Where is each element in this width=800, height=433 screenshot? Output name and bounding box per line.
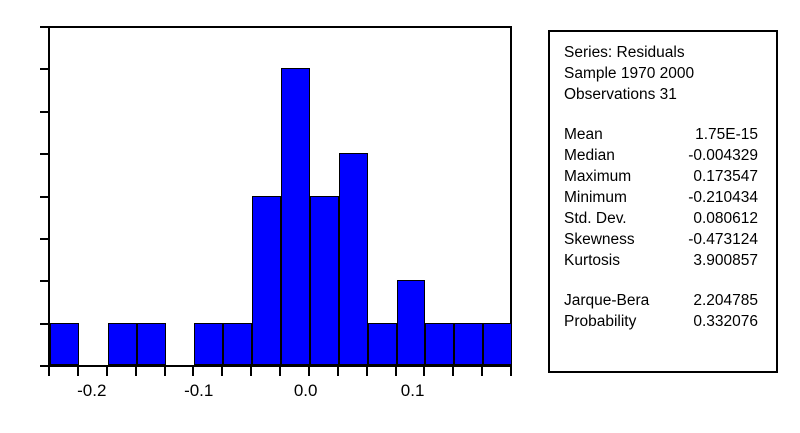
x-axis-tick <box>510 367 512 376</box>
statistics-content: Series: ResidualsSample 1970 2000Observa… <box>564 42 766 332</box>
x-axis-tick <box>395 367 397 376</box>
statistics-header-line: Sample 1970 2000 <box>564 63 766 84</box>
statistic-test-row: Probability0.332076 <box>564 311 766 332</box>
statistic-value: 3.900857 <box>693 250 766 271</box>
statistics-header-line: Series: Residuals <box>564 42 766 63</box>
statistic-label: Median <box>564 145 615 166</box>
statistic-value: 1.75E-15 <box>695 124 766 145</box>
statistic-label: Minimum <box>564 187 627 208</box>
x-axis-tick <box>221 367 223 376</box>
statistic-row: Skewness-0.473124 <box>564 229 766 250</box>
statistic-row: Std. Dev.0.080612 <box>564 208 766 229</box>
statistic-label: Skewness <box>564 229 635 250</box>
statistic-label: Probability <box>564 311 636 332</box>
statistic-value: -0.210434 <box>688 187 766 208</box>
x-axis-tick <box>135 367 137 376</box>
x-axis-tick <box>366 367 368 376</box>
statistics-box: Series: ResidualsSample 1970 2000Observa… <box>548 30 778 373</box>
x-axis-tick <box>48 367 50 376</box>
x-axis-tick-label: 0.0 <box>276 381 336 400</box>
x-axis: -0.2-0.10.00.1 <box>0 0 530 433</box>
x-axis-tick <box>192 367 194 376</box>
x-axis-tick <box>77 367 79 376</box>
x-axis-tick <box>337 367 339 376</box>
statistic-row: Maximum0.173547 <box>564 166 766 187</box>
x-axis-tick <box>481 367 483 376</box>
x-axis-tick <box>452 367 454 376</box>
statistic-row: Median-0.004329 <box>564 145 766 166</box>
statistic-label: Jarque-Bera <box>564 290 649 311</box>
statistic-value: 2.204785 <box>693 290 766 311</box>
statistic-label: Std. Dev. <box>564 208 627 229</box>
histogram-panel: 012345678 -0.2-0.10.00.1 <box>0 0 530 433</box>
statistic-value: -0.004329 <box>688 145 766 166</box>
x-axis-tick <box>279 367 281 376</box>
statistic-value: 0.173547 <box>693 166 766 187</box>
statistics-header-line: Observations 31 <box>564 84 766 105</box>
statistic-label: Maximum <box>564 166 631 187</box>
x-axis-tick <box>250 367 252 376</box>
x-axis-tick-label: -0.1 <box>169 381 229 400</box>
statistics-spacer <box>564 105 766 124</box>
x-axis-tick <box>308 367 310 376</box>
x-axis-tick <box>106 367 108 376</box>
statistic-label: Kurtosis <box>564 250 620 271</box>
statistic-test-row: Jarque-Bera2.204785 <box>564 290 766 311</box>
x-axis-tick-label: 0.1 <box>383 381 443 400</box>
statistic-row: Minimum-0.210434 <box>564 187 766 208</box>
statistic-value: -0.473124 <box>688 229 766 250</box>
statistics-spacer <box>564 271 766 290</box>
x-axis-tick-label: -0.2 <box>62 381 122 400</box>
x-axis-tick <box>423 367 425 376</box>
statistic-value: 0.080612 <box>693 208 766 229</box>
statistic-value: 0.332076 <box>693 311 766 332</box>
statistic-row: Mean1.75E-15 <box>564 124 766 145</box>
x-axis-tick <box>164 367 166 376</box>
statistic-label: Mean <box>564 124 603 145</box>
statistic-row: Kurtosis3.900857 <box>564 250 766 271</box>
